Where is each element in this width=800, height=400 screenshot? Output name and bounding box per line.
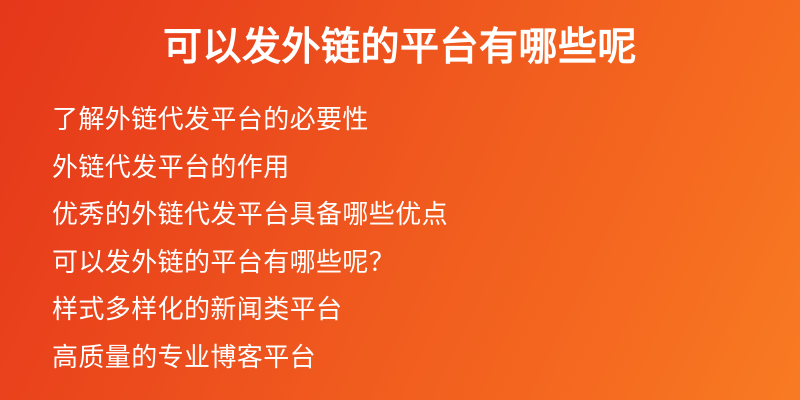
list-item: 样式多样化的新闻类平台: [52, 286, 752, 334]
list-item: 外链代发平台的作用: [52, 144, 752, 192]
page-title: 可以发外链的平台有哪些呢: [0, 24, 800, 72]
list-item: 了解外链代发平台的必要性: [52, 96, 752, 144]
article-cover-card: 可以发外链的平台有哪些呢 了解外链代发平台的必要性 外链代发平台的作用 优秀的外…: [0, 0, 800, 400]
list-item: 优秀的外链代发平台具备哪些优点: [52, 191, 752, 239]
list-item: 高质量的专业博客平台: [52, 334, 752, 382]
list-item: 可以发外链的平台有哪些呢？: [52, 239, 752, 287]
outline-list: 了解外链代发平台的必要性 外链代发平台的作用 优秀的外链代发平台具备哪些优点 可…: [52, 96, 752, 381]
